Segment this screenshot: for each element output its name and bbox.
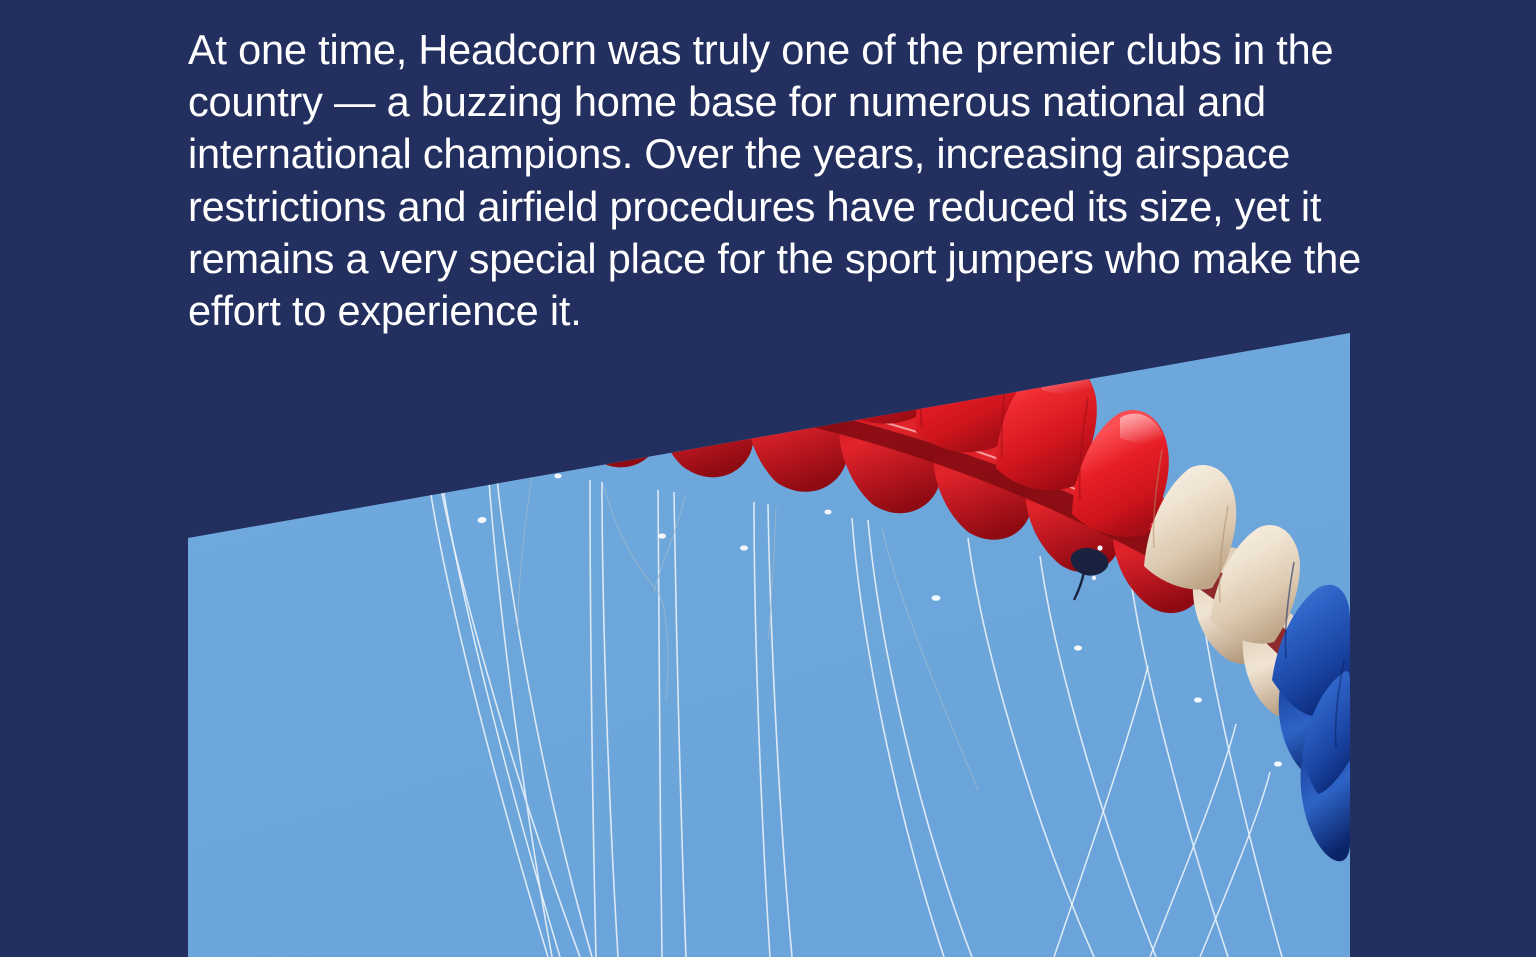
story-panel: At one time, Headcorn was truly one of t… bbox=[188, 24, 1368, 337]
story-paragraph: At one time, Headcorn was truly one of t… bbox=[188, 24, 1368, 337]
